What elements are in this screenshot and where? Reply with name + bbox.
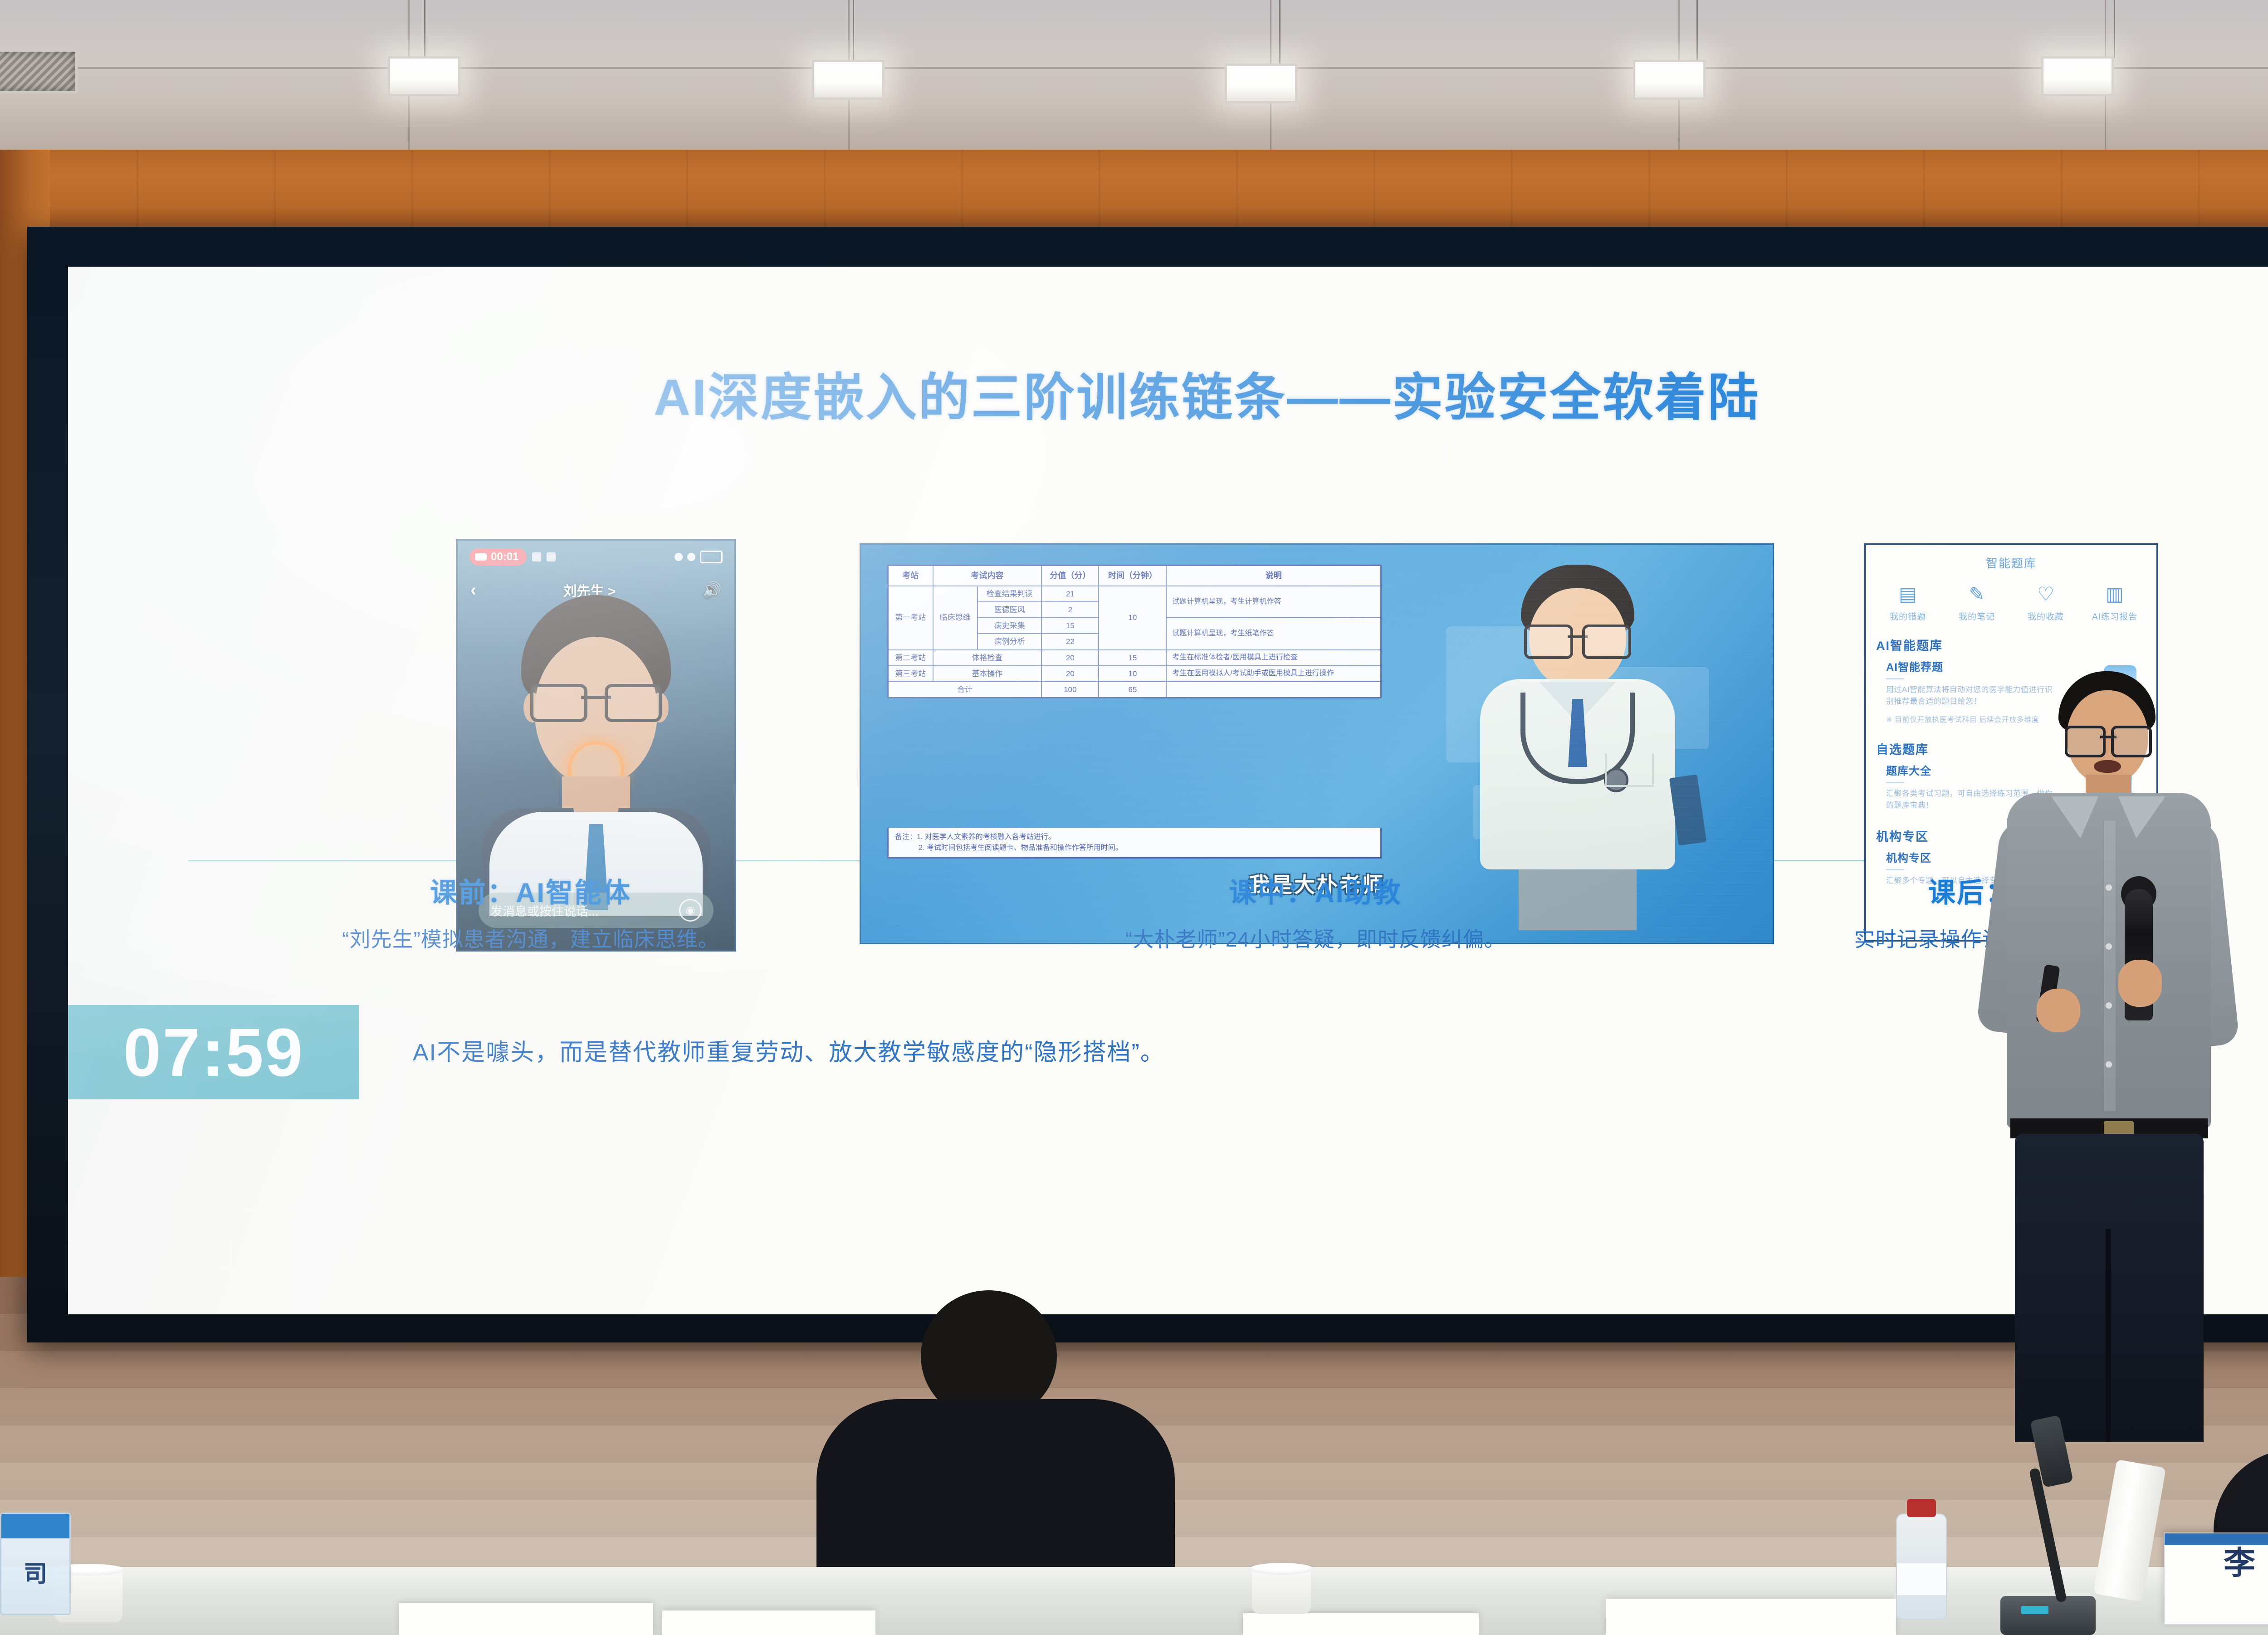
- table-total-row: 合计 100 65: [888, 682, 1381, 698]
- wall-upper-wood: [0, 150, 2268, 231]
- table-note-line: 备注：1. 对医学人文素养的考核融入各考站进行。: [895, 832, 1374, 843]
- speaker-icon[interactable]: 🔊: [703, 581, 722, 599]
- total-time: 65: [1099, 682, 1166, 698]
- subject-cell: 临床思维: [933, 586, 978, 650]
- glasses-icon: [1524, 625, 1631, 654]
- paper-sheet: [1606, 1599, 1896, 1635]
- pencil-icon: ✎: [1965, 583, 1988, 605]
- column-heading: 课前：AI智能体: [263, 871, 798, 910]
- ceiling-cable: [0, 67, 2268, 69]
- table-row: 第一考站 临床思维 检查结果判读 21 10 试题计算机呈现，考生计算机作答: [888, 586, 1381, 602]
- nameplate-text: 李: [2165, 1547, 2268, 1579]
- ceiling-light: [812, 60, 885, 100]
- heart-icon: ♡: [2034, 583, 2057, 605]
- paper-cup[interactable]: [1252, 1567, 1311, 1614]
- ceiling-light: [2041, 56, 2114, 96]
- status-icon: [547, 552, 556, 561]
- ceiling: [0, 0, 2268, 150]
- table-note-line: 2. 考试时间包括考生阅读题卡、物品准备和操作作答所用时间。: [895, 843, 1374, 854]
- column-caption-pre: 课前：AI智能体 “刘先生”模拟患者沟通，建立临床思维。: [263, 871, 798, 953]
- wifi-icon: [675, 553, 683, 561]
- time-cell: 10: [1099, 666, 1166, 682]
- report-icon: ▥: [2103, 583, 2126, 605]
- quick-item-label: 我的错题: [1890, 610, 1926, 622]
- quick-item-label: 我的收藏: [2028, 610, 2064, 622]
- item-score: 21: [1041, 586, 1099, 602]
- table-card-holder: 司: [0, 1513, 71, 1615]
- table-row: 第二考站 体格检查 20 15 考生在标准体检者/医用模具上进行检查: [888, 650, 1381, 666]
- qbank-quick-item[interactable]: ▥ AI练习报告: [2085, 583, 2144, 622]
- item-score: 20: [1041, 650, 1099, 666]
- paper-sheet: [399, 1603, 653, 1635]
- ceiling-light: [1633, 60, 1706, 100]
- slide-summary: AI不是噱头，而是替代教师重复劳动、放大教学敏感度的“隐形搭档”。: [413, 1033, 1165, 1067]
- qbank-quick-item[interactable]: ♡ 我的收藏: [2016, 583, 2075, 622]
- qbank-section-title: AI智能题库: [1866, 627, 2156, 656]
- status-icon: [532, 552, 541, 561]
- ceiling-light: [1225, 63, 1297, 103]
- ai-patient-avatar: [489, 595, 703, 908]
- quick-item-label: AI练习报告: [2092, 610, 2137, 622]
- table-header-cell: 分值（分）: [1041, 566, 1099, 586]
- table-header-cell: 考站: [888, 566, 933, 586]
- column-subtext: “刘先生”模拟患者沟通，建立临床思维。: [263, 923, 798, 953]
- column-caption-during: 课中：AI助教 “大朴老师”24小时答疑，即时反馈纠偏。: [875, 871, 1755, 953]
- water-bottle[interactable]: [1896, 1513, 1947, 1620]
- paper-sheet: [1243, 1613, 1479, 1635]
- presentation-slide: AI深度嵌入的三阶训练链条——实验安全软着陆 00:01: [68, 267, 2268, 1314]
- document-icon: ▤: [1897, 583, 1919, 605]
- table-notes: 备注：1. 对医学人文素养的考核融入各考站进行。 2. 考试时间包括考生阅读题卡…: [887, 828, 1382, 859]
- qbank-quick-icons: ▤ 我的错题 ✎ 我的笔记 ♡ 我的收藏 ▥ A: [1866, 573, 2156, 627]
- desc-cell: 试题计算机呈现，考生计算机作答: [1166, 586, 1381, 618]
- subject-cell: 体格检查: [933, 650, 1042, 666]
- projection-screen: AI深度嵌入的三阶训练链条——实验安全软着陆 00:01: [27, 227, 2268, 1342]
- time-cell: 15: [1099, 650, 1166, 666]
- qbank-quick-item[interactable]: ✎ 我的笔记: [1947, 583, 2006, 622]
- card-rule: [1886, 869, 1904, 870]
- item-score: 2: [1041, 602, 1099, 618]
- slide-title: AI深度嵌入的三阶训练链条——实验安全软着陆: [68, 356, 2268, 430]
- phone-status-bar: 00:01: [458, 545, 734, 569]
- camera-icon: [475, 553, 487, 561]
- item-score: 15: [1041, 618, 1099, 634]
- column-heading: 课中：AI助教: [875, 871, 1755, 910]
- column-subtext: “大朴老师”24小时答疑，即时反馈纠偏。: [875, 923, 1755, 953]
- subject-cell: 基本操作: [933, 666, 1042, 682]
- back-icon[interactable]: ‹: [470, 580, 476, 600]
- table-row: 第三考站 基本操作 20 10 考生在医用模拟人/考试助手或医用模具上进行操作: [888, 666, 1381, 682]
- qbank-header: 智能题库: [1866, 545, 2156, 573]
- card-holder-glyph: 司: [1, 1555, 69, 1589]
- signal-icon: [687, 553, 695, 561]
- desc-cell: 考生在医用模拟人/考试助手或医用模具上进行操作: [1166, 666, 1381, 682]
- item-name: 病例分析: [978, 634, 1041, 649]
- total-label: 合计: [888, 682, 1042, 698]
- recording-badge: 00:01: [469, 548, 527, 566]
- conference-microphone[interactable]: [1987, 1426, 2123, 1635]
- table-header-cell: 考试内容: [933, 566, 1042, 586]
- item-name: 检查结果判读: [978, 586, 1041, 602]
- table-header-cell: 时间（分钟）: [1099, 566, 1166, 586]
- table-header-row: 考站 考试内容 分值（分） 时间（分钟） 说明: [888, 566, 1381, 586]
- time-cell: 10: [1099, 586, 1166, 650]
- quick-item-label: 我的笔记: [1959, 610, 1995, 622]
- total-score: 100: [1041, 682, 1099, 698]
- ceiling-light: [388, 56, 460, 96]
- status-right-group: [675, 551, 723, 563]
- nameplate: 李: [2164, 1533, 2268, 1625]
- air-vent: [0, 49, 78, 93]
- station-cell: 第一考站: [888, 586, 933, 650]
- timer-value: 07:59: [123, 1018, 304, 1086]
- station-cell: 第二考站: [888, 650, 933, 666]
- item-name: 病史采集: [978, 618, 1041, 634]
- desc-cell: 试题计算机呈现，考生纸笔作答: [1166, 618, 1381, 650]
- record-timer: 00:01: [491, 551, 518, 563]
- item-score: 22: [1041, 634, 1099, 649]
- station-cell: 第三考站: [888, 666, 933, 682]
- screenshot-root: AI深度嵌入的三阶训练链条——实验安全软着陆 00:01: [0, 0, 2268, 1635]
- table-header-cell: 说明: [1166, 566, 1381, 586]
- battery-icon: [700, 551, 723, 563]
- item-score: 20: [1041, 666, 1099, 682]
- countdown-timer: 07:59: [68, 1005, 359, 1099]
- exam-table: 考站 考试内容 分值（分） 时间（分钟） 说明 第一考站 临床思维: [887, 565, 1382, 698]
- item-name: 医德医风: [978, 602, 1041, 618]
- qbank-quick-item[interactable]: ▤ 我的错题: [1878, 583, 1937, 622]
- glasses-icon: [2065, 726, 2152, 753]
- nameplate-strip: [2165, 1533, 2268, 1545]
- card-rule: [1886, 782, 1904, 783]
- desc-cell: 考生在标准体检者/医用模具上进行检查: [1166, 650, 1381, 666]
- paper-sheet: [662, 1611, 875, 1635]
- glasses-icon: [530, 684, 662, 717]
- card-rule: [1886, 678, 1904, 679]
